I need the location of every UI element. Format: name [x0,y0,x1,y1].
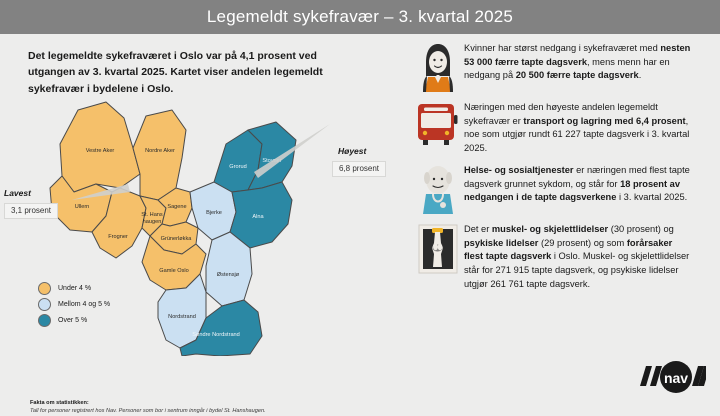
map-label-st-hanshaugen-1: St. Hans [141,212,163,218]
fact-text: Helse- og sosialtjenester er næringen me… [464,162,692,205]
fact-item: Kvinner har størst nedgang i sykefravære… [412,40,712,92]
map-label-grorud: Grorud [229,164,246,170]
map-label-nordre-aker: Nordre Aker [145,148,175,154]
map-label-ullern: Ullern [75,204,90,210]
district-nordre-aker[interactable] [133,110,186,200]
fact-text: Kvinner har størst nedgang i sykefravære… [464,40,692,83]
nav-logo-text: nav [664,370,688,386]
fact-item: Det er muskel- og skjelettlidelser (30 p… [412,221,712,291]
woman-icon [412,40,464,92]
callout-highest-title: Høyest [332,146,386,156]
map-label-bjerke: Bjerke [206,210,222,216]
legend-item[interactable]: Mellom 4 og 5 % [38,296,110,312]
nav-logo: nav [636,360,706,394]
map-label-st-hanshaugen-2: haugen [143,219,162,225]
intro-text: Det legemeldte sykefraværet i Oslo var p… [28,48,358,97]
legend-label: Under 4 % [58,285,91,292]
fact-text: Næringen med den høyeste andelen legemel… [464,99,692,155]
map-label-sagene: Sagene [167,204,186,210]
legend-swatch [38,314,51,327]
map-legend: Under 4 %Mellom 4 og 5 %Over 5 % [38,280,110,328]
legend-label: Over 5 % [58,317,87,324]
health-worker-icon [412,162,464,214]
map-label-vestre-aker: Vestre Aker [86,148,115,154]
facts-panel: Kvinner har størst nedgang i sykefravære… [412,40,712,298]
callout-highest: Høyest 6,8 prosent [332,146,386,177]
fact-text: Det er muskel- og skjelettlidelser (30 p… [464,221,692,291]
map-label-alna: Alna [252,214,264,220]
map-label-frogner: Frogner [108,234,128,240]
map-label-gamle-oslo: Gamle Oslo [159,268,189,274]
legend-item[interactable]: Over 5 % [38,312,110,328]
fact-item: Helse- og sosialtjenester er næringen me… [412,162,712,214]
footnote-title: Fakta om statistikken: [30,400,360,406]
callout-lowest-value: 3,1 prosent [4,203,58,219]
map-label-nordstrand: Nordstrand [168,314,196,320]
map-label-ostensjo: Østensjø [217,272,240,278]
callout-lowest: Lavest 3,1 prosent [4,188,58,219]
xray-icon [412,221,464,275]
callout-highest-value: 6,8 prosent [332,161,386,177]
footnote-text: Tall for personer registrert hos Nav. Pe… [30,408,360,416]
page-title: Legemeldt sykefravær – 3. kvartal 2025 [207,7,513,27]
map-label-sondre-nordstrand: Søndre Nordstrand [192,332,240,338]
legend-item[interactable]: Under 4 % [38,280,110,296]
fact-item: Næringen med den høyeste andelen legemel… [412,99,712,155]
map-panel: Det legemeldte sykefraværet i Oslo var p… [0,34,410,405]
map-label-grunerlokka: Grünerløkka [161,236,193,242]
footnote: Fakta om statistikken: Tall for personer… [30,400,360,416]
page-header: Legemeldt sykefravær – 3. kvartal 2025 [0,0,720,34]
legend-label: Mellom 4 og 5 % [58,301,110,308]
legend-swatch [38,282,51,295]
bus-icon [412,99,464,147]
legend-swatch [38,298,51,311]
district-vestre-aker[interactable] [60,102,140,192]
callout-lowest-title: Lavest [4,188,58,198]
